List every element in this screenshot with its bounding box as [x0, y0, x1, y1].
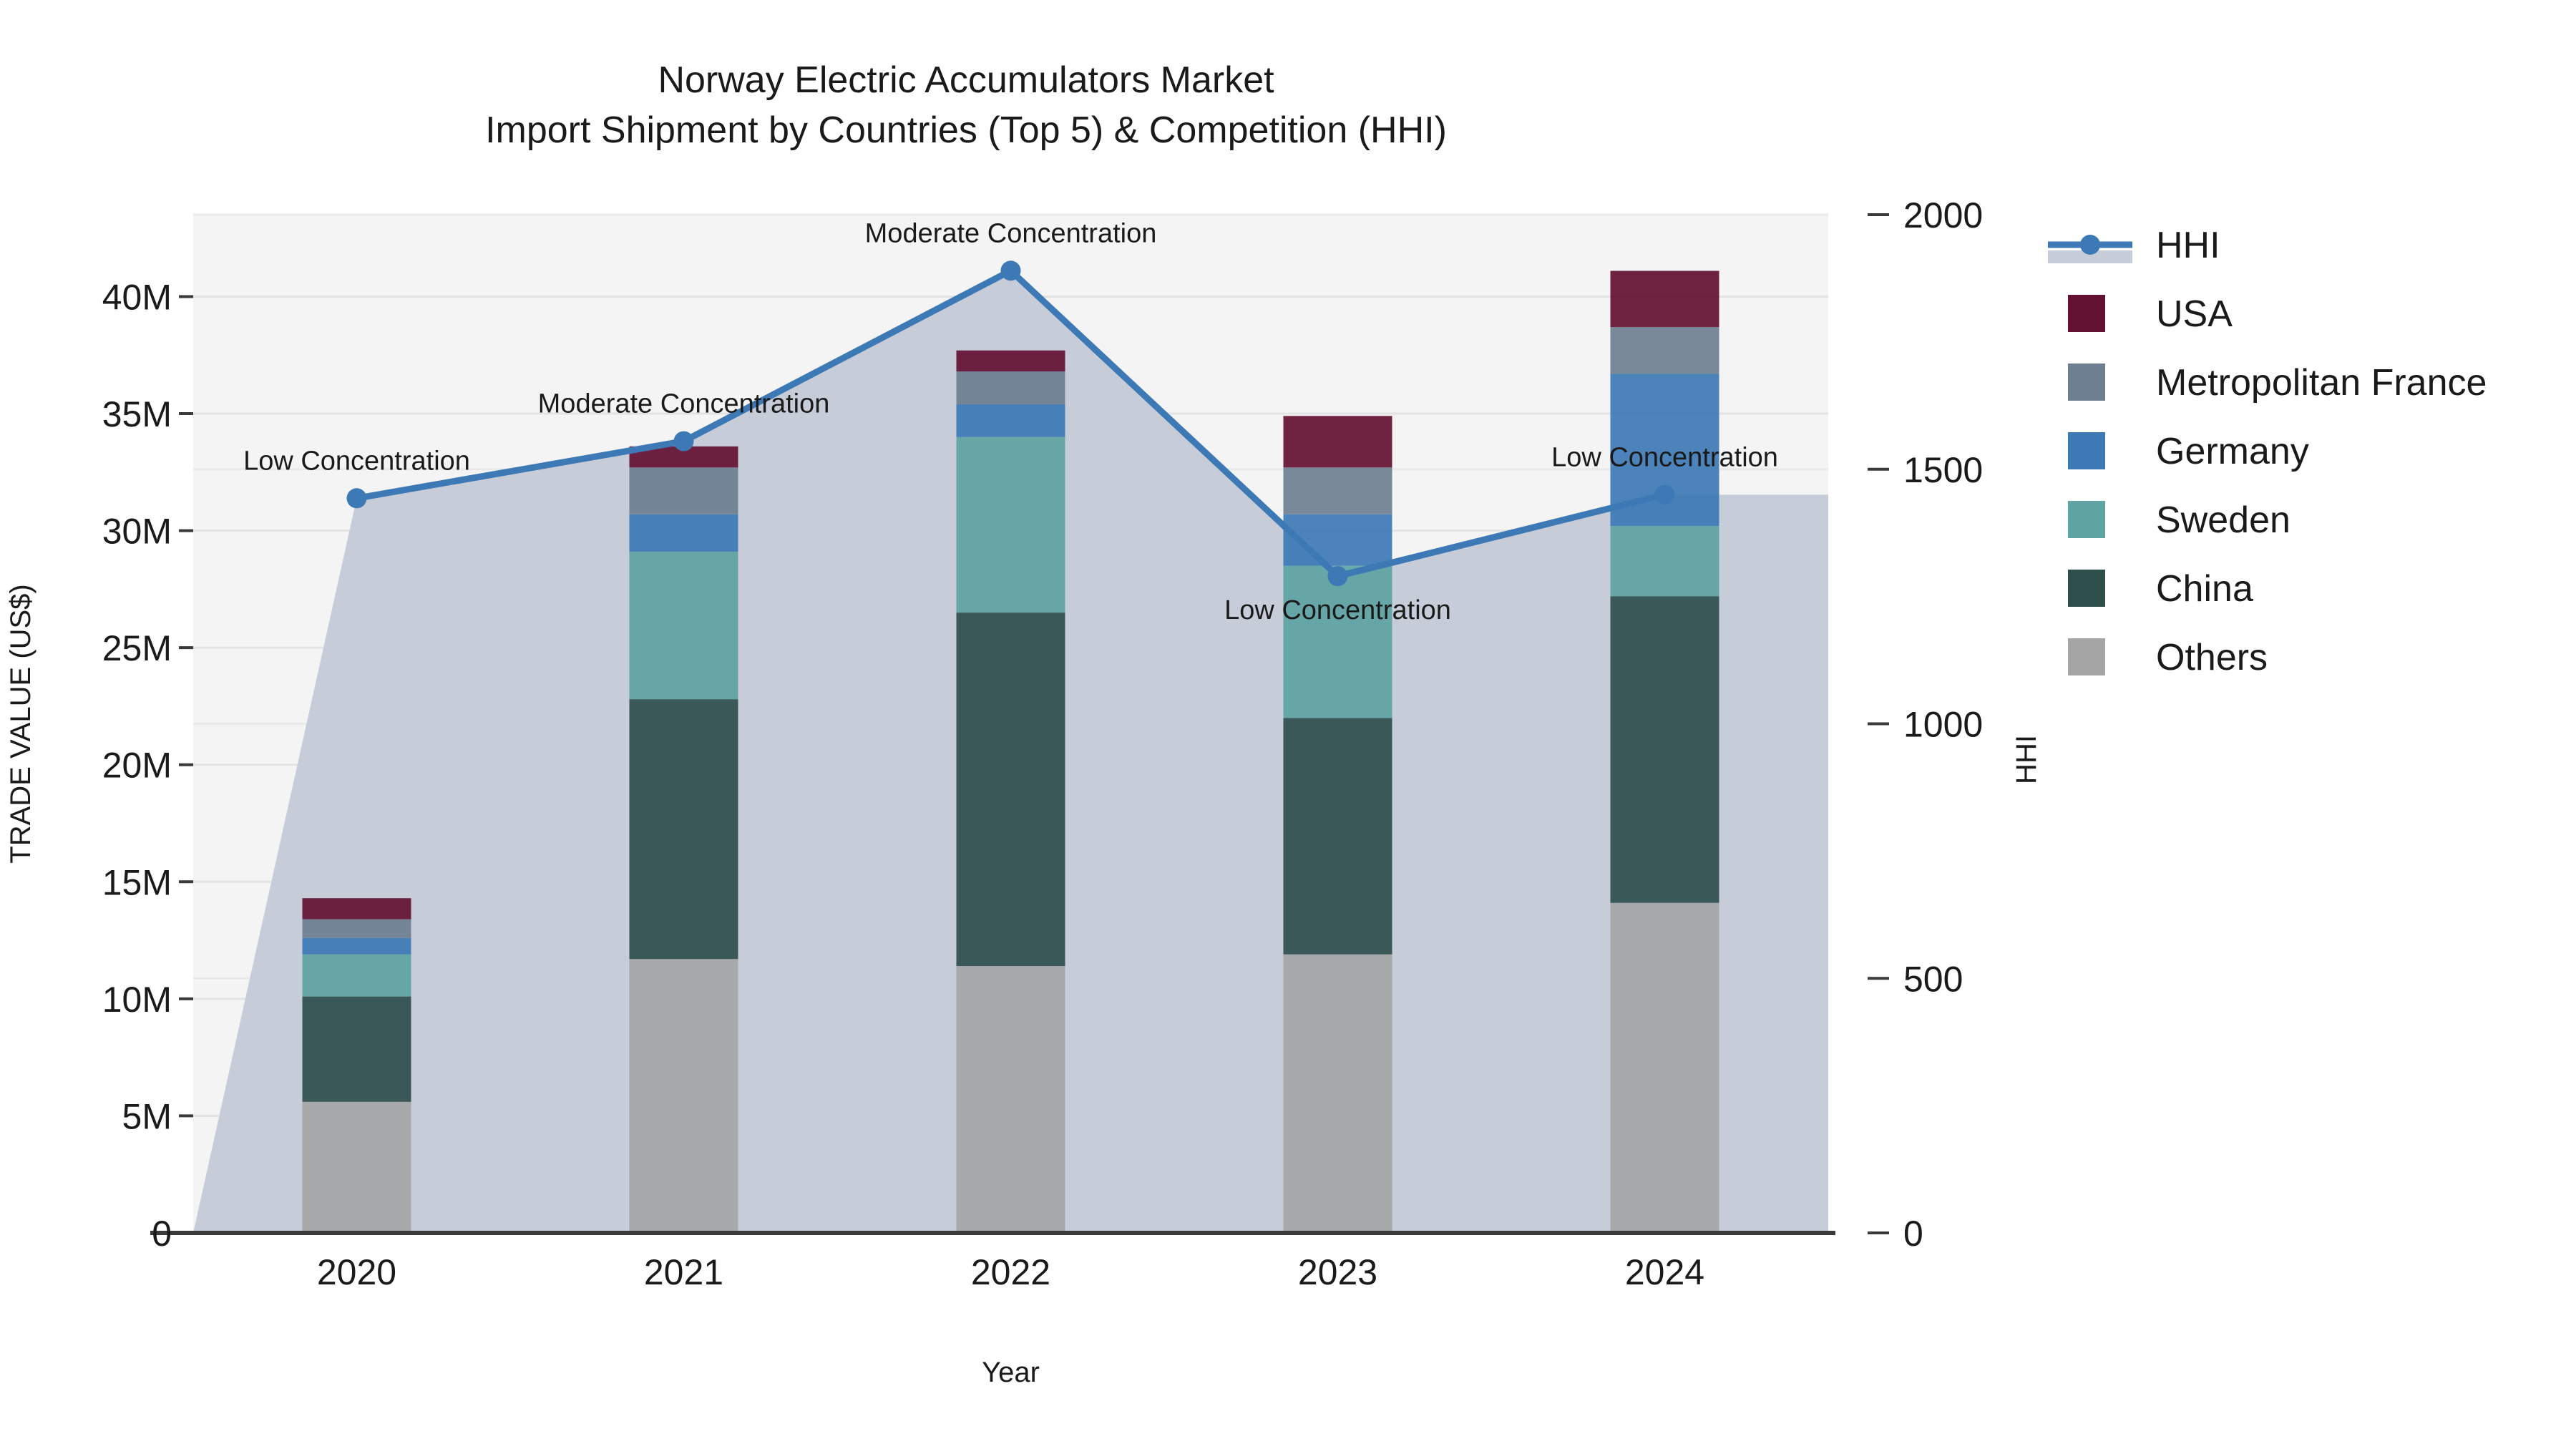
legend-item-china[interactable]: China	[2068, 568, 2253, 610]
bar-segment-china[interactable]	[303, 997, 411, 1102]
bar-segment-metropolitan-france[interactable]	[303, 919, 411, 938]
bar-segment-sweden[interactable]	[630, 552, 738, 699]
bar-stack-2021[interactable]	[630, 447, 738, 1233]
y-tick-label: 20M	[102, 746, 172, 786]
y2-tick-label: 2000	[1903, 195, 1983, 235]
y2-axis-title: HHI	[2011, 735, 2042, 784]
x-tick-label: 2023	[1298, 1252, 1377, 1292]
x-tick-label: 2020	[317, 1252, 396, 1292]
legend-item-label: China	[2156, 568, 2253, 610]
y2-axis-ticks: 0500100015002000	[1868, 195, 1983, 1254]
annotation-2020: Low Concentration	[243, 446, 470, 476]
y-axis-title: TRADE VALUE (US$)	[5, 584, 36, 863]
y-tick-label: 35M	[102, 394, 172, 434]
bar-segment-china[interactable]	[1284, 718, 1392, 954]
legend-item-sweden[interactable]: Sweden	[2068, 499, 2290, 541]
y-tick-label: 40M	[102, 277, 172, 317]
y-tick-label: 10M	[102, 980, 172, 1020]
y-tick-label: 15M	[102, 862, 172, 902]
bar-segment-sweden[interactable]	[303, 955, 411, 997]
bar-segment-others[interactable]	[303, 1102, 411, 1233]
y-axis-ticks: 05M10M15M20M25M30M35M40M	[102, 277, 193, 1254]
y2-tick-label: 1000	[1903, 705, 1983, 745]
bar-segment-sweden[interactable]	[1611, 526, 1719, 596]
y-tick-label: 30M	[102, 512, 172, 552]
bar-segment-usa[interactable]	[1611, 271, 1719, 328]
x-tick-label: 2024	[1625, 1252, 1704, 1292]
y-tick-label: 25M	[102, 628, 172, 668]
legend-color-swatch	[2068, 501, 2105, 538]
legend-line-marker	[2080, 235, 2100, 255]
hhi-marker-2023[interactable]	[1328, 566, 1348, 586]
legend-color-swatch	[2068, 638, 2105, 675]
bar-segment-usa[interactable]	[957, 351, 1065, 371]
bar-segment-metropolitan-france[interactable]	[957, 371, 1065, 404]
bar-segment-germany[interactable]	[630, 514, 738, 552]
bar-segment-others[interactable]	[1284, 955, 1392, 1233]
annotation-2022: Moderate Concentration	[865, 218, 1157, 248]
annotation-2023: Low Concentration	[1224, 595, 1451, 625]
y2-tick-label: 0	[1903, 1214, 1923, 1254]
legend-item-germany[interactable]: Germany	[2068, 431, 2309, 472]
bar-segment-usa[interactable]	[1284, 416, 1392, 467]
x-tick-label: 2021	[644, 1252, 723, 1292]
legend-item-hhi[interactable]: HHI	[2048, 225, 2220, 266]
hhi-marker-2022[interactable]	[1001, 260, 1021, 280]
bar-segment-usa[interactable]	[303, 898, 411, 919]
x-axis-ticks: 20202021202220232024	[317, 1252, 1704, 1292]
legend-item-label: Germany	[2156, 431, 2309, 472]
y-tick-label: 0	[152, 1214, 172, 1254]
hhi-marker-2024[interactable]	[1655, 484, 1675, 504]
legend-item-label: Sweden	[2156, 499, 2290, 541]
legend-color-swatch	[2068, 295, 2105, 332]
hhi-marker-2020[interactable]	[347, 488, 367, 508]
chart-canvas: Low ConcentrationModerate ConcentrationM…	[0, 0, 2576, 1449]
bar-segment-metropolitan-france[interactable]	[1611, 327, 1719, 374]
bar-stack-2022[interactable]	[957, 351, 1065, 1233]
y2-tick-label: 1500	[1903, 450, 1983, 490]
legend-item-usa[interactable]: USA	[2068, 293, 2233, 335]
bar-segment-sweden[interactable]	[1284, 566, 1392, 718]
bar-segment-germany[interactable]	[957, 404, 1065, 437]
legend-color-swatch	[2068, 432, 2105, 469]
bar-stack-2024[interactable]	[1611, 271, 1719, 1233]
bar-segment-metropolitan-france[interactable]	[1284, 467, 1392, 514]
bar-segment-metropolitan-france[interactable]	[630, 467, 738, 514]
x-tick-label: 2022	[971, 1252, 1050, 1292]
legend-item-label: USA	[2156, 293, 2233, 335]
legend-item-label: HHI	[2156, 225, 2220, 266]
legend-color-swatch	[2068, 570, 2105, 607]
bar-segment-germany[interactable]	[303, 938, 411, 955]
legend-color-swatch	[2068, 364, 2105, 401]
bar-segment-china[interactable]	[630, 699, 738, 959]
x-axis-title: Year	[982, 1357, 1040, 1388]
bar-stack-2020[interactable]	[303, 898, 411, 1233]
legend-item-label: Others	[2156, 637, 2268, 678]
bar-segment-others[interactable]	[630, 959, 738, 1233]
legend: HHIUSAMetropolitan FranceGermanySwedenCh…	[2048, 225, 2487, 678]
legend-item-others[interactable]: Others	[2068, 637, 2268, 678]
y-tick-label: 5M	[122, 1096, 172, 1136]
annotation-2024: Low Concentration	[1551, 442, 1778, 472]
legend-item-metropolitan-france[interactable]: Metropolitan France	[2068, 362, 2487, 404]
bar-segment-sweden[interactable]	[957, 437, 1065, 613]
hhi-marker-2021[interactable]	[674, 431, 694, 452]
annotation-2021: Moderate Concentration	[538, 389, 830, 419]
bar-segment-china[interactable]	[957, 613, 1065, 966]
legend-item-label: Metropolitan France	[2156, 362, 2487, 404]
bar-segment-others[interactable]	[1611, 903, 1719, 1233]
y2-tick-label: 500	[1903, 959, 1963, 999]
bar-segment-others[interactable]	[957, 966, 1065, 1233]
chart-figure: Norway Electric Accumulators Market Impo…	[0, 0, 2576, 1449]
bar-segment-china[interactable]	[1611, 596, 1719, 903]
